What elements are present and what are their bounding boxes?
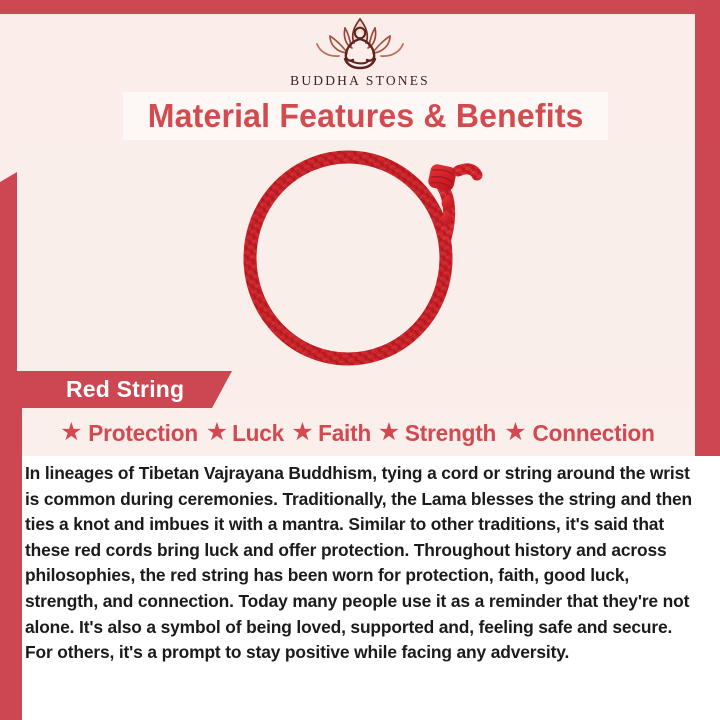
star-icon: ★ xyxy=(504,420,526,445)
red-string-bracelet-image xyxy=(226,145,486,367)
frame-top-bar xyxy=(0,0,720,14)
benefit-item-luck: ★ Luck xyxy=(206,420,285,447)
benefits-row: ★ Protection ★ Luck ★ Faith ★ Strength ★… xyxy=(22,410,695,456)
star-icon: ★ xyxy=(60,420,82,445)
benefit-label: Faith xyxy=(318,420,371,447)
lotus-meditation-icon xyxy=(301,14,419,72)
benefit-label: Strength xyxy=(405,420,496,447)
description-text: In lineages of Tibetan Vajrayana Buddhis… xyxy=(25,461,697,666)
product-infographic: BUDDHA STONES Material Features & Benefi… xyxy=(0,0,720,720)
benefit-label: Connection xyxy=(532,420,654,447)
star-icon: ★ xyxy=(291,420,313,445)
star-icon: ★ xyxy=(378,420,400,445)
benefit-item-protection: ★ Protection xyxy=(60,420,200,447)
benefit-item-strength: ★ Strength xyxy=(378,420,498,447)
product-photo-area xyxy=(17,140,695,372)
frame-left-lower-bar xyxy=(0,368,22,720)
product-name-label: Red String xyxy=(66,376,184,403)
brand-header: BUDDHA STONES xyxy=(0,14,720,92)
page-title: Material Features & Benefits xyxy=(148,97,584,135)
benefit-item-connection: ★ Connection xyxy=(504,420,657,447)
title-band: Material Features & Benefits xyxy=(123,92,608,140)
benefit-item-faith: ★ Faith xyxy=(291,420,372,447)
benefit-label: Protection xyxy=(88,420,198,447)
product-name-banner: Red String xyxy=(0,371,232,408)
benefit-label: Luck xyxy=(232,420,284,447)
description-panel: In lineages of Tibetan Vajrayana Buddhis… xyxy=(22,456,720,720)
star-icon: ★ xyxy=(206,420,228,445)
brand-name: BUDDHA STONES xyxy=(0,73,720,89)
